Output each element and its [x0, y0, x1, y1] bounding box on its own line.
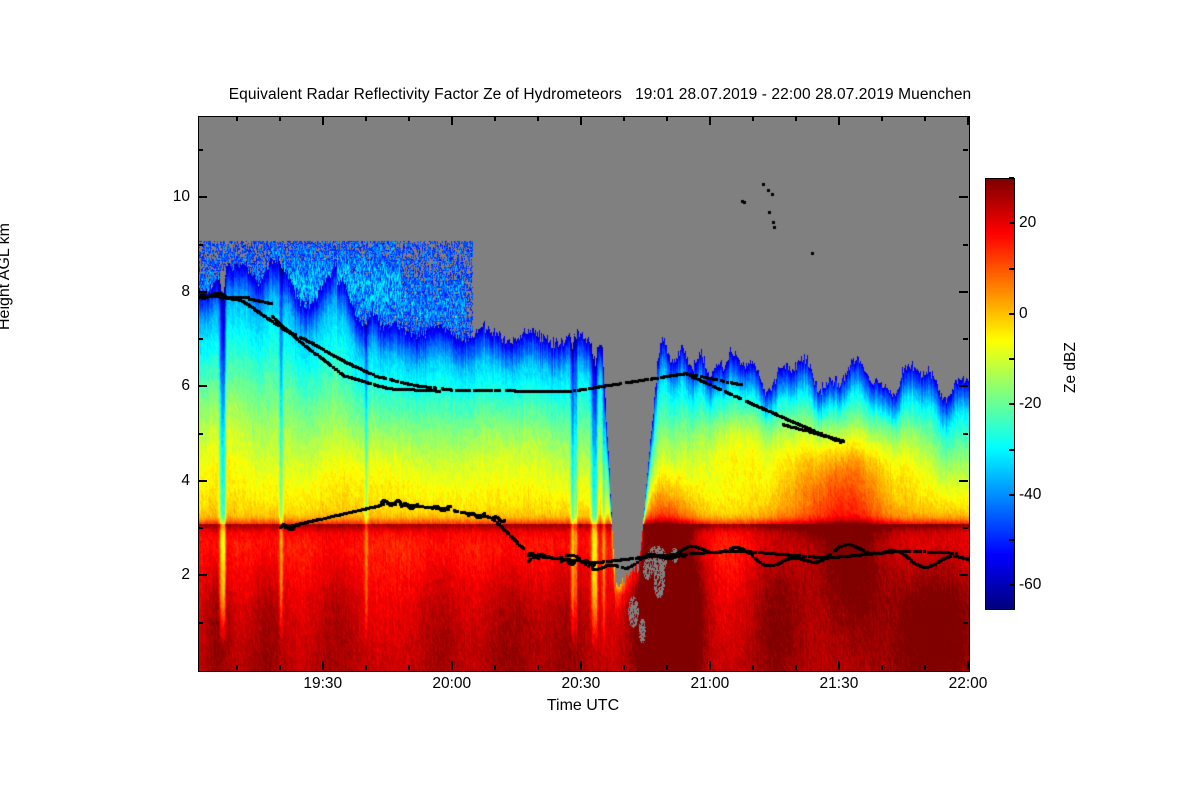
y-axis-minor-tick — [963, 149, 968, 151]
y-axis-label: Height AGL km — [0, 223, 14, 330]
colorbar-tick-label: -40 — [1019, 486, 1041, 504]
x-axis-minor-tick — [666, 665, 668, 670]
y-tick-label: 2 — [181, 566, 190, 584]
x-axis-major-tick — [451, 116, 453, 125]
y-axis-minor-tick — [963, 244, 968, 246]
colorbar-tick-label: -20 — [1019, 395, 1041, 413]
y-axis-major-tick — [198, 480, 207, 482]
x-axis-minor-tick — [494, 665, 496, 670]
x-axis-minor-tick — [623, 116, 625, 121]
x-axis-minor-tick — [623, 665, 625, 670]
x-axis-major-tick — [967, 116, 969, 125]
x-axis-minor-tick — [236, 665, 238, 670]
x-axis-major-tick — [322, 661, 324, 670]
x-axis-minor-tick — [924, 665, 926, 670]
colorbar-gradient — [986, 179, 1014, 609]
y-axis-minor-tick — [198, 338, 203, 340]
x-axis-major-tick — [838, 116, 840, 125]
y-axis-minor-tick — [963, 338, 968, 340]
colorbar-minor-tick — [1009, 403, 1014, 405]
colorbar-tick-label: -60 — [1019, 576, 1041, 594]
colorbar-title: Ze dBZ — [1062, 342, 1080, 393]
x-axis-major-tick — [967, 661, 969, 670]
y-axis-minor-tick — [198, 149, 203, 151]
x-axis-minor-tick — [365, 665, 367, 670]
y-axis-major-tick — [198, 291, 207, 293]
y-axis-minor-tick — [198, 244, 203, 246]
y-axis-major-tick — [959, 291, 968, 293]
x-axis-minor-tick — [752, 116, 754, 121]
reflectivity-heatmap-canvas — [199, 117, 969, 671]
y-axis-major-tick — [959, 480, 968, 482]
colorbar-minor-tick — [1009, 177, 1014, 179]
x-axis-minor-tick — [537, 665, 539, 670]
colorbar — [985, 178, 1015, 610]
colorbar-tick-label: 20 — [1019, 214, 1036, 232]
x-axis-minor-tick — [881, 665, 883, 670]
y-axis-minor-tick — [198, 622, 203, 624]
y-axis-minor-tick — [963, 527, 968, 529]
x-axis-minor-tick — [795, 116, 797, 121]
x-axis-major-tick — [580, 116, 582, 125]
x-axis-major-tick — [580, 661, 582, 670]
y-axis-major-tick — [198, 385, 207, 387]
x-axis-major-tick — [709, 116, 711, 125]
y-axis-minor-tick — [198, 433, 203, 435]
x-tick-label: 19:30 — [303, 675, 342, 693]
y-tick-label: 8 — [181, 283, 190, 301]
x-axis-minor-tick — [408, 665, 410, 670]
colorbar-minor-tick — [1009, 449, 1014, 451]
x-axis-minor-tick — [924, 116, 926, 121]
x-axis-minor-tick — [236, 116, 238, 121]
colorbar-minor-tick — [1009, 584, 1014, 586]
x-axis-minor-tick — [279, 665, 281, 670]
y-tick-label: 10 — [173, 188, 190, 206]
y-axis-major-tick — [198, 574, 207, 576]
x-axis-minor-tick — [494, 116, 496, 121]
colorbar-minor-tick — [1009, 494, 1014, 496]
colorbar-minor-tick — [1009, 313, 1014, 315]
x-axis-minor-tick — [881, 116, 883, 121]
y-axis-minor-tick — [963, 622, 968, 624]
x-tick-label: 20:30 — [561, 675, 600, 693]
colorbar-minor-tick — [1009, 358, 1014, 360]
x-tick-label: 21:30 — [820, 675, 859, 693]
x-axis-major-tick — [322, 116, 324, 125]
x-axis-major-tick — [451, 661, 453, 670]
y-tick-label: 6 — [181, 377, 190, 395]
y-axis-minor-tick — [198, 527, 203, 529]
x-tick-label: 22:00 — [949, 675, 988, 693]
colorbar-minor-tick — [1009, 268, 1014, 270]
y-axis-major-tick — [959, 385, 968, 387]
x-axis-major-tick — [838, 661, 840, 670]
x-axis-minor-tick — [408, 116, 410, 121]
x-axis-minor-tick — [537, 116, 539, 121]
x-axis-minor-tick — [279, 116, 281, 121]
x-axis-label: Time UTC — [198, 697, 968, 715]
colorbar-minor-tick — [1009, 539, 1014, 541]
figure-root: Equivalent Radar Reflectivity Factor Ze … — [0, 0, 1200, 800]
x-tick-label: 20:00 — [432, 675, 471, 693]
x-axis-minor-tick — [752, 665, 754, 670]
y-axis-major-tick — [959, 574, 968, 576]
colorbar-tick-label: 0 — [1019, 305, 1028, 323]
y-axis-major-tick — [198, 196, 207, 198]
figure-title: Equivalent Radar Reflectivity Factor Ze … — [0, 86, 1200, 104]
x-axis-minor-tick — [795, 665, 797, 670]
x-axis-major-tick — [709, 661, 711, 670]
x-axis-minor-tick — [365, 116, 367, 121]
x-tick-label: 21:00 — [690, 675, 729, 693]
y-axis-minor-tick — [963, 433, 968, 435]
radar-plot-area — [198, 116, 970, 672]
colorbar-minor-tick — [1009, 222, 1014, 224]
y-axis-major-tick — [959, 196, 968, 198]
y-tick-label: 4 — [181, 472, 190, 490]
x-axis-minor-tick — [666, 116, 668, 121]
